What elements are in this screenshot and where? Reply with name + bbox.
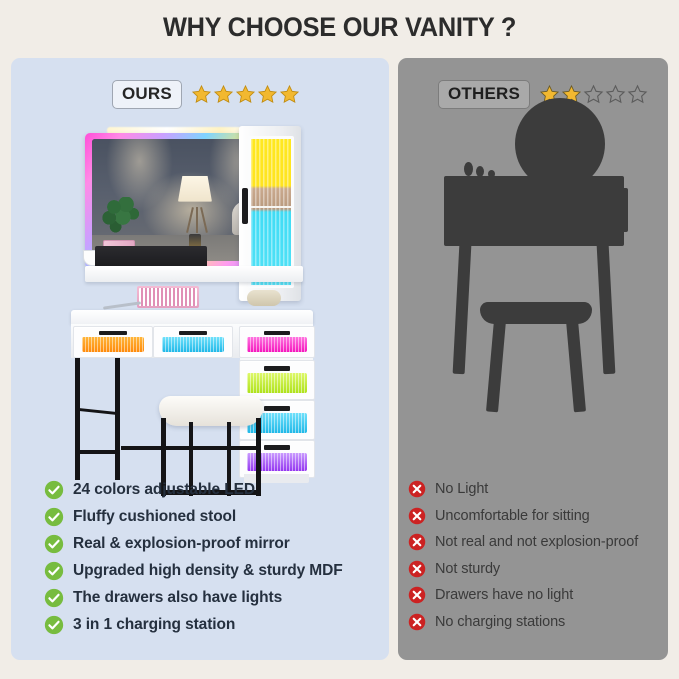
page-title: WHY CHOOSE OUR VANITY ? <box>20 12 658 43</box>
list-item: 3 in 1 charging station <box>44 611 389 638</box>
cabinet-glass-texture <box>251 139 291 285</box>
list-item-label: No Light <box>435 481 488 497</box>
list-item-label: Uncomfortable for sitting <box>435 508 590 524</box>
ours-feature-list: 24 colors adjustable LED Fluffy cushione… <box>11 476 389 638</box>
comparison-panel-others: OTHERS No Light Uncomfortable for sittin… <box>398 58 668 660</box>
silhouette-desk-leg <box>453 244 472 374</box>
drawer-handle <box>264 331 291 335</box>
silhouette-desk-side <box>614 188 628 232</box>
check-circle-icon <box>44 561 64 581</box>
drawer-lighted <box>73 326 153 358</box>
drawer-led-strip <box>247 373 306 393</box>
check-circle-icon <box>44 615 64 635</box>
list-item: No charging stations <box>408 609 668 636</box>
cushioned-stool-seat <box>159 396 263 426</box>
list-item: Uncomfortable for sitting <box>408 503 668 530</box>
silhouette-stool-leg <box>566 320 586 413</box>
list-item: Real & explosion-proof mirror <box>44 530 389 557</box>
cabinet-shelf <box>251 206 291 208</box>
x-circle-icon <box>408 507 426 525</box>
drawer-handle <box>264 366 291 371</box>
drawer-led-strip <box>247 337 306 353</box>
silhouette-stool-leg <box>486 320 506 413</box>
check-circle-icon <box>44 588 64 608</box>
brush-set <box>137 286 199 308</box>
x-circle-icon <box>408 586 426 604</box>
x-circle-icon <box>408 533 426 551</box>
list-item-label: Upgraded high density & sturdy MDF <box>73 562 343 580</box>
drawer-handle <box>264 406 291 411</box>
mirror-ledge-shelf <box>85 266 303 282</box>
list-item-label: Not real and not explosion-proof <box>435 534 638 550</box>
drawer-led-strip <box>162 337 224 353</box>
reflected-lampshade <box>178 176 212 202</box>
stool-brace <box>161 446 261 450</box>
cabinet-handle <box>242 188 248 224</box>
list-item-label: The drawers also have lights <box>73 589 282 607</box>
list-item-label: Not sturdy <box>435 561 500 577</box>
hand-mirror <box>247 290 281 306</box>
drawer-lighted <box>239 360 315 400</box>
list-item-label: Fluffy cushioned stool <box>73 508 236 526</box>
list-item: Not sturdy <box>408 556 668 583</box>
drawer-handle <box>264 445 291 450</box>
list-item: Drawers have no light <box>408 582 668 609</box>
desk-top <box>71 310 313 324</box>
desk-leg-brace <box>75 450 120 454</box>
drawer-lighted <box>239 326 315 358</box>
desk-leg-brace <box>77 408 119 415</box>
list-item-label: Real & explosion-proof mirror <box>73 535 290 553</box>
list-item-label: 24 colors adjustable LED <box>73 481 255 499</box>
list-item: No Light <box>408 476 668 503</box>
drawer-handle <box>99 331 127 335</box>
x-circle-icon <box>408 613 426 631</box>
silhouette-desk-leg <box>597 244 616 374</box>
drawer-handle <box>179 331 207 335</box>
check-circle-icon <box>44 534 64 554</box>
x-circle-icon <box>408 560 426 578</box>
makeup-brush-tray <box>95 246 207 268</box>
silhouette-desk-body <box>444 176 624 246</box>
stool-brace <box>121 446 167 450</box>
list-item-label: 3 in 1 charging station <box>73 616 235 634</box>
brush-set-texture <box>139 288 197 306</box>
desk-leg <box>115 358 120 480</box>
silhouette-desk-item <box>464 162 473 176</box>
list-item: The drawers also have lights <box>44 584 389 611</box>
comparison-panel-ours: OURS <box>11 58 389 660</box>
list-item: Fluffy cushioned stool <box>44 503 389 530</box>
others-product-silhouette <box>398 58 668 458</box>
drawer-lighted <box>153 326 233 358</box>
list-item-label: Drawers have no light <box>435 587 573 603</box>
check-circle-icon <box>44 507 64 527</box>
desk-tool <box>103 301 141 309</box>
others-feature-list: No Light Uncomfortable for sitting Not r… <box>398 476 668 635</box>
desk-leg <box>75 358 80 480</box>
list-item-label: No charging stations <box>435 614 565 630</box>
list-item: Upgraded high density & sturdy MDF <box>44 557 389 584</box>
x-circle-icon <box>408 480 426 498</box>
list-item: Not real and not explosion-proof <box>408 529 668 556</box>
reflected-plant <box>102 197 142 237</box>
reflected-lamp-leg <box>196 207 198 233</box>
list-item: 24 colors adjustable LED <box>44 476 389 503</box>
drawer-led-strip <box>82 337 144 353</box>
ours-product-image <box>11 58 389 458</box>
check-circle-icon <box>44 480 64 500</box>
